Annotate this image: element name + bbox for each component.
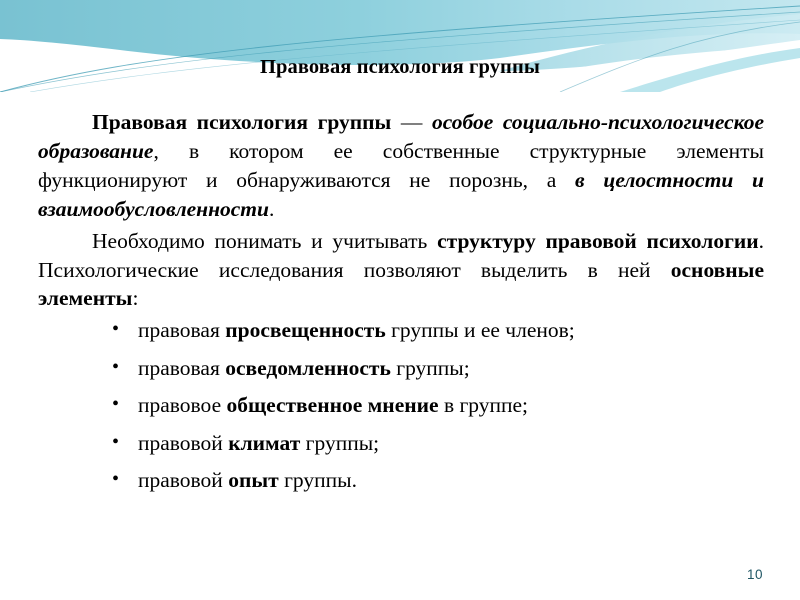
text-run: правовая	[138, 318, 225, 342]
text-run: опыт	[228, 468, 279, 492]
slide-content: Правовая психология группы — особое соци…	[38, 108, 764, 508]
list-item: правовой климат группы;	[112, 433, 764, 455]
text-run: .	[269, 197, 274, 221]
text-run: климат	[228, 431, 300, 455]
list-item: правовое общественное мнение в группе;	[112, 395, 764, 417]
list-item: правовой опыт группы.	[112, 470, 764, 492]
elements-list: правовая просвещенность группы и ее член…	[38, 320, 764, 492]
paragraph: Правовая психология группы — особое соци…	[38, 108, 764, 224]
text-run: группы и ее членов;	[386, 318, 575, 342]
paragraph: Необходимо понимать и учитывать структур…	[38, 227, 764, 314]
list-item: правовая просвещенность группы и ее член…	[112, 320, 764, 342]
page-number: 10	[747, 567, 763, 582]
page-title: Правовая психология группы	[0, 56, 800, 79]
text-run: правовое	[138, 393, 227, 417]
text-run: в группе;	[439, 393, 528, 417]
text-run: просвещенность	[225, 318, 385, 342]
text-run: Необходимо понимать и учитывать	[92, 229, 437, 253]
text-run: правовой	[138, 431, 228, 455]
text-run: Правовая психология группы	[92, 110, 401, 134]
text-run: группы.	[279, 468, 357, 492]
text-run: структуру правовой психологии	[437, 229, 759, 253]
text-run: правовая	[138, 356, 225, 380]
text-run: :	[132, 286, 138, 310]
text-run: группы;	[300, 431, 379, 455]
list-item: правовая осведомленность группы;	[112, 358, 764, 380]
text-run: —	[401, 110, 432, 134]
text-run: группы;	[391, 356, 470, 380]
text-run: общественное мнение	[227, 393, 439, 417]
text-run: осведомленность	[225, 356, 391, 380]
text-run: правовой	[138, 468, 228, 492]
